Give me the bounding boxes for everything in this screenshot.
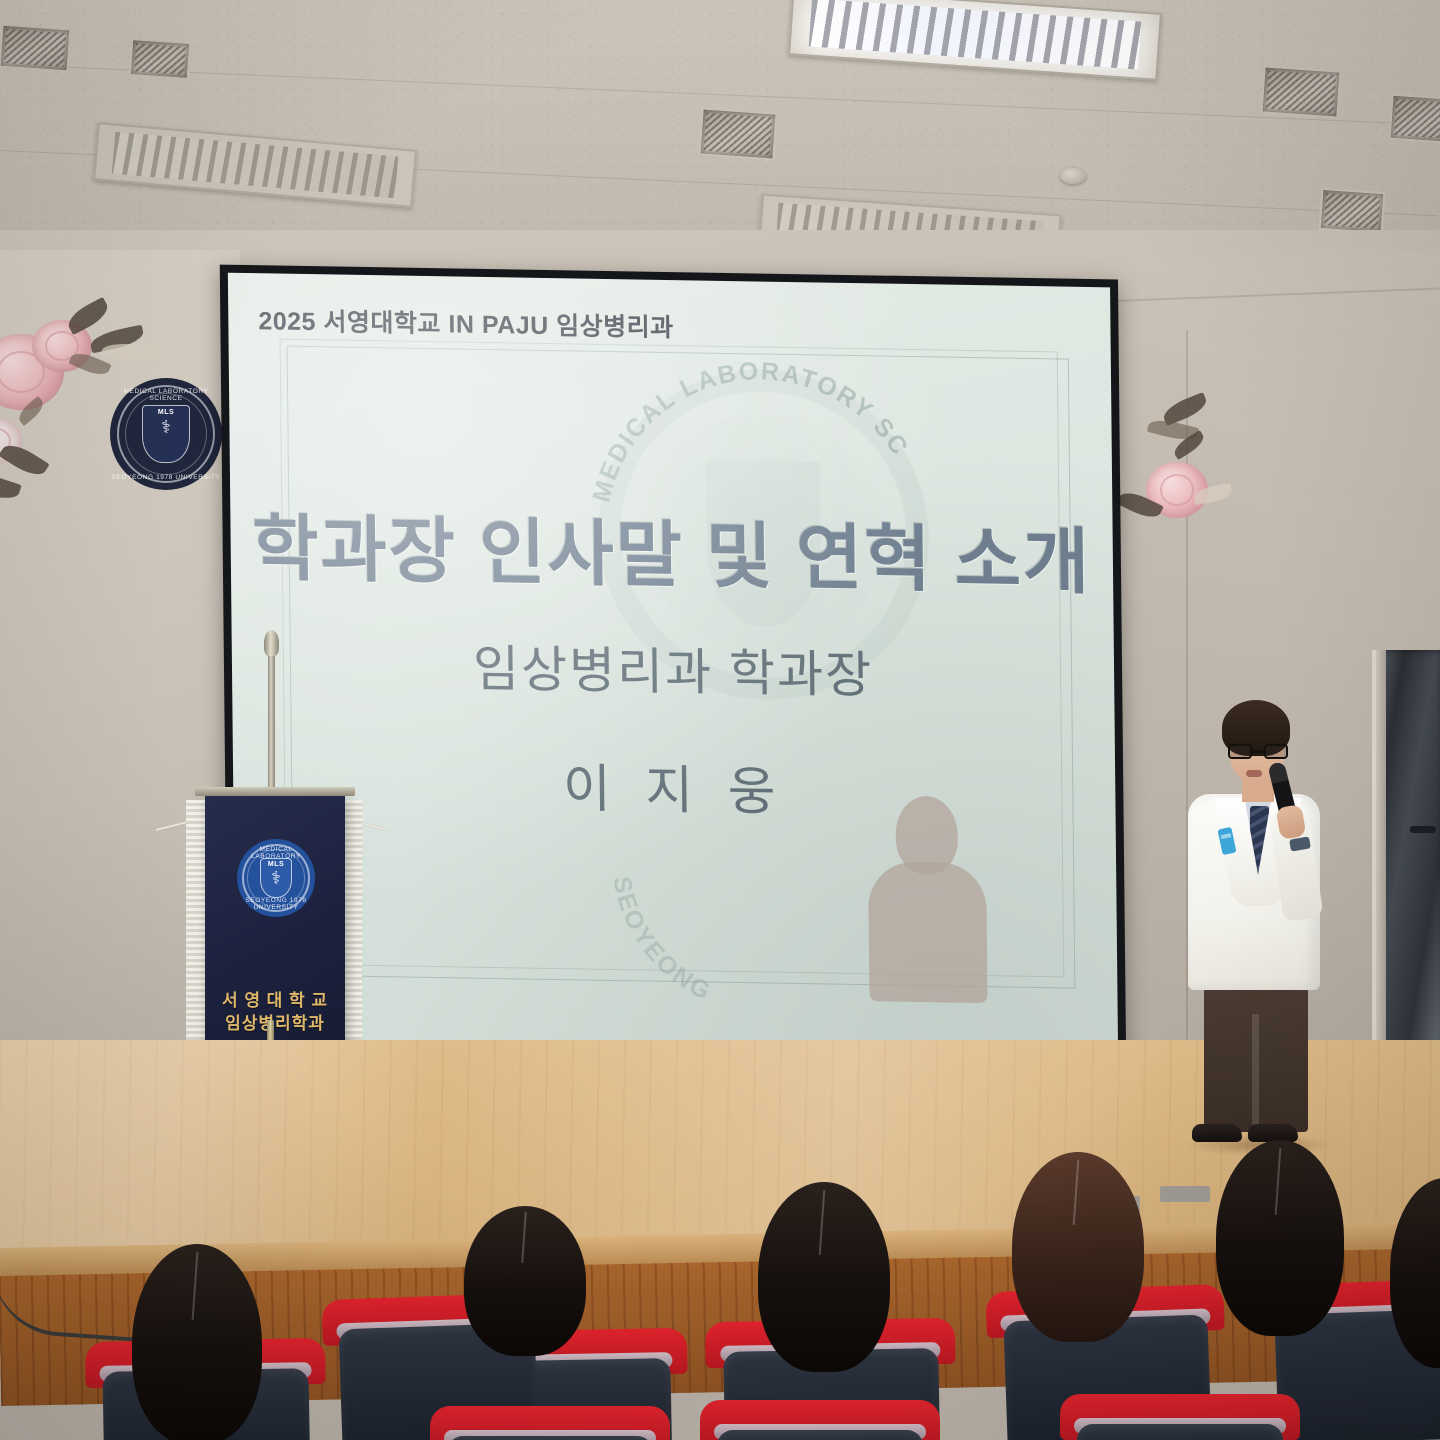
audience-hair bbox=[132, 1244, 262, 1440]
audience-hair bbox=[1012, 1152, 1144, 1342]
audience-member bbox=[1390, 1178, 1440, 1368]
audience-member bbox=[758, 1182, 890, 1372]
audience-member bbox=[132, 1244, 262, 1440]
seat-back bbox=[447, 1436, 653, 1440]
audience-hair bbox=[1216, 1140, 1344, 1336]
glasses-bridge bbox=[1252, 750, 1264, 753]
auditorium-seat[interactable] bbox=[430, 1406, 670, 1440]
slide-subtitle: 임상병리과 학과장 bbox=[232, 625, 1115, 712]
floral-decal-right bbox=[1118, 400, 1248, 570]
door-handle-icon[interactable] bbox=[1410, 826, 1436, 833]
audience-member bbox=[1216, 1140, 1344, 1336]
banner-topbar bbox=[195, 787, 355, 796]
banner-line-1: 서 영 대 학 교 bbox=[205, 990, 345, 1013]
slide-title: 학과장 인사말 및 연혁 소개 bbox=[230, 489, 1113, 609]
caduceus-icon: ⚕ bbox=[161, 418, 171, 436]
caduceus-icon: ⚕ bbox=[271, 869, 281, 887]
university-seal-wall: MEDICAL LABORATORY SCIENCE SEOYEONG 1978… bbox=[110, 378, 222, 490]
presenter bbox=[1180, 700, 1320, 1140]
leaf-icon bbox=[101, 341, 162, 363]
smoke-detector-icon bbox=[1060, 168, 1086, 184]
seal-arc-bottom: SEOYEONG 1978 UNIVERSITY bbox=[237, 897, 315, 911]
auditorium-seat[interactable] bbox=[1060, 1394, 1300, 1440]
screenshot-root: MEDICAL LABORATORY SCIENCE SEOYEONG 1978… bbox=[0, 0, 1440, 1440]
auditorium-seat[interactable] bbox=[700, 1400, 940, 1440]
ceiling-vent bbox=[1319, 188, 1386, 234]
audience-member bbox=[1012, 1152, 1144, 1342]
leaf-icon bbox=[0, 439, 50, 481]
ceiling-vent bbox=[0, 24, 71, 73]
ceiling-vent bbox=[1388, 94, 1440, 145]
presenter-trousers bbox=[1204, 984, 1308, 1132]
projected-audience-silhouette bbox=[867, 795, 987, 997]
ceiling-vent bbox=[1260, 65, 1341, 118]
leaf-icon bbox=[0, 468, 22, 504]
seal-shield: MLS ⚕ bbox=[142, 405, 189, 463]
seal-arc-top: MEDICAL LABORATORY SCIENCE bbox=[110, 388, 222, 402]
light-louver bbox=[809, 0, 1141, 70]
seat-back bbox=[717, 1430, 923, 1440]
audience-hair bbox=[758, 1182, 890, 1372]
floor-outlet-plate bbox=[1160, 1186, 1210, 1202]
ceiling-vent bbox=[698, 107, 777, 160]
seal-shield: MLS ⚕ bbox=[260, 858, 293, 899]
glasses-lens-right bbox=[1264, 744, 1288, 759]
audience-hair bbox=[1390, 1178, 1440, 1368]
banner-pole-finial-icon bbox=[264, 630, 279, 656]
slide-header-text: 2025 서영대학교 IN PAJU 임상병리과 bbox=[258, 301, 674, 344]
seal-shield-label: MLS bbox=[268, 861, 284, 868]
seal-shield-label: MLS bbox=[158, 409, 174, 416]
glasses-lens-left bbox=[1228, 744, 1252, 759]
ceiling-vent bbox=[129, 38, 192, 80]
seal-arc-bottom: SEOYEONG 1978 UNIVERSITY bbox=[110, 474, 222, 481]
doorway[interactable] bbox=[1372, 650, 1440, 1050]
university-seal-banner: MEDICAL LABORATORY SCIENCE SEOYEONG 1978… bbox=[237, 839, 315, 917]
audience-member bbox=[464, 1206, 586, 1356]
leaf-icon bbox=[64, 297, 112, 335]
presenter-mouth bbox=[1246, 770, 1262, 777]
seat-back bbox=[1077, 1424, 1283, 1440]
eyeglasses-icon bbox=[1228, 744, 1288, 759]
silhouette-body bbox=[868, 861, 987, 1003]
door-jamb bbox=[1376, 650, 1386, 1050]
